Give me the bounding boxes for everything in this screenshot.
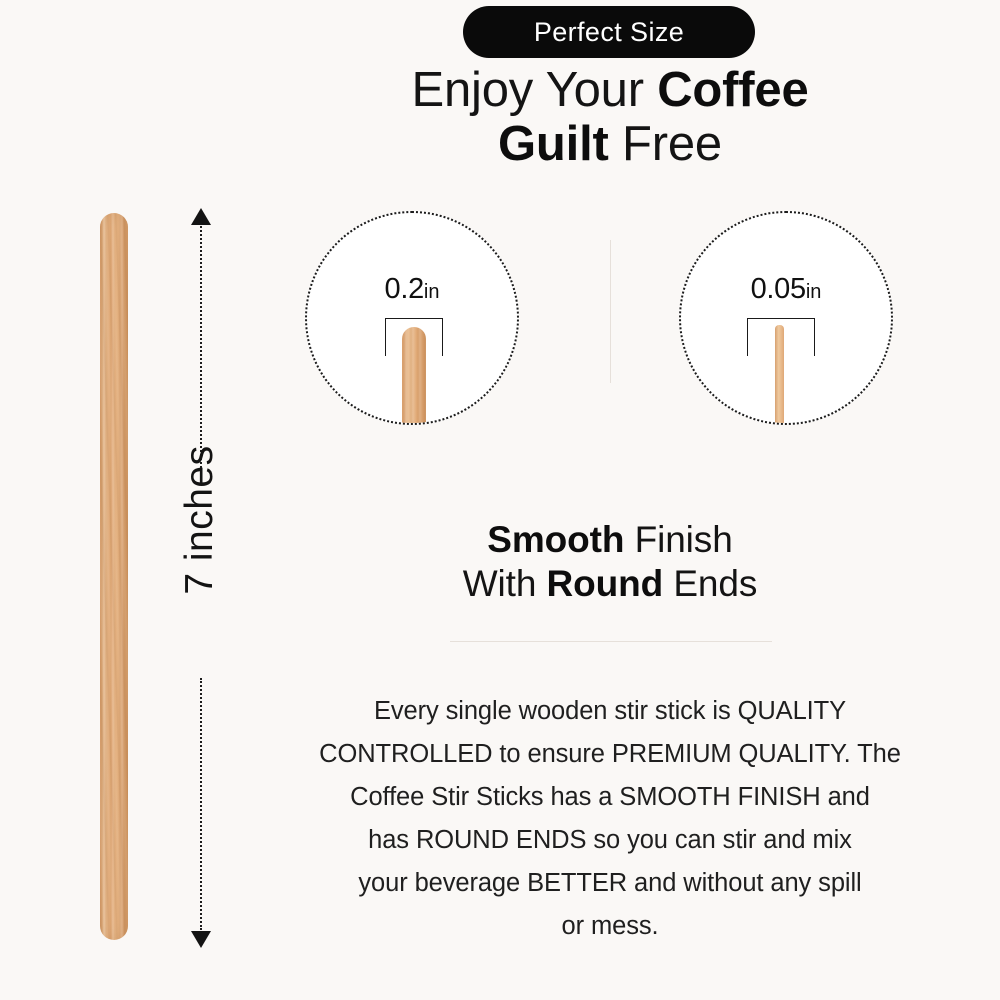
length-dimension-label: 7 inches [178, 420, 222, 620]
width-value: 0.2 [385, 273, 424, 305]
headline-line-1: Enjoy Your Coffee [280, 63, 940, 117]
subhead-text-finish: Finish [624, 519, 732, 560]
body-line: has ROUND ENDS so you can stir and mix [290, 819, 930, 862]
stir-stick-full-length [100, 213, 128, 940]
section-subtitle: Smooth Finish With Round Ends [300, 518, 920, 606]
horizontal-divider [450, 641, 772, 642]
width-detail-circle: 0.2in [305, 211, 519, 425]
width-dimension-label: 0.2in [307, 275, 517, 304]
headline-text-enjoy-your: Enjoy Your [412, 63, 658, 117]
subhead-emphasis-smooth: Smooth [487, 519, 624, 560]
subhead-line-2: With Round Ends [300, 562, 920, 606]
stir-stick-tip-wide [402, 327, 426, 425]
headline-emphasis-coffee: Coffee [657, 63, 808, 117]
headline-emphasis-guilt: Guilt [498, 117, 609, 171]
stir-stick-tip-thin [775, 325, 784, 425]
subhead-text-ends: Ends [663, 563, 757, 604]
badge-label: Perfect Size [534, 19, 684, 46]
headline-text-free: Free [609, 117, 722, 171]
body-line: Coffee Stir Sticks has a SMOOTH FINISH a… [290, 776, 930, 819]
description-paragraph: Every single wooden stir stick is QUALIT… [290, 690, 930, 948]
thickness-unit: in [806, 281, 822, 303]
arrow-down-icon [191, 931, 211, 948]
body-line: or mess. [290, 905, 930, 948]
perfect-size-badge: Perfect Size [463, 6, 755, 58]
subhead-emphasis-round: Round [547, 563, 664, 604]
subhead-line-1: Smooth Finish [300, 518, 920, 562]
length-dimension-arrow: 7 inches [184, 208, 218, 948]
headline-line-2: Guilt Free [280, 117, 940, 171]
arrow-up-icon [191, 208, 211, 225]
thickness-detail-circle: 0.05in [679, 211, 893, 425]
thickness-value: 0.05 [751, 273, 806, 305]
width-unit: in [424, 281, 440, 303]
thickness-dimension-label: 0.05in [681, 275, 891, 304]
dimension-line-bottom [200, 678, 202, 930]
body-line: CONTROLLED to ensure PREMIUM QUALITY. Th… [290, 733, 930, 776]
page-title: Enjoy Your Coffee Guilt Free [280, 63, 940, 171]
product-infographic: Perfect Size Enjoy Your Coffee Guilt Fre… [0, 0, 1000, 1000]
vertical-divider [610, 240, 611, 383]
body-line: your beverage BETTER and without any spi… [290, 862, 930, 905]
body-line: Every single wooden stir stick is QUALIT… [290, 690, 930, 733]
subhead-text-with: With [463, 563, 547, 604]
